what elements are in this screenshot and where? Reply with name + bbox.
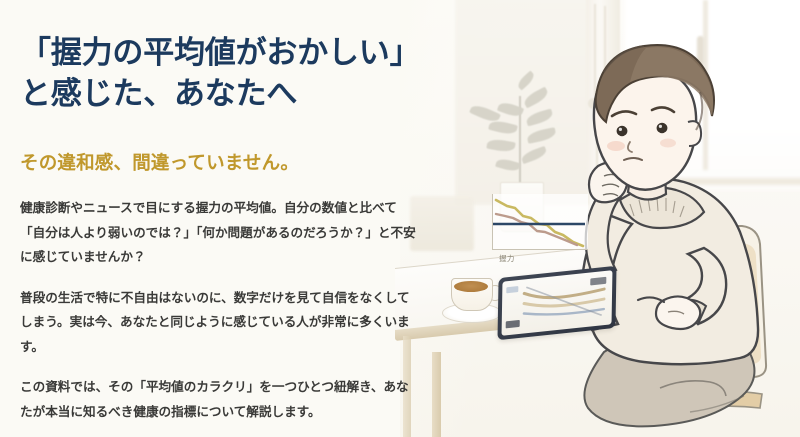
mini-chart-plot xyxy=(493,194,587,248)
headline-line-2: と感じた、あなたへ xyxy=(20,73,460,114)
page-title: 「握力の平均値がおかしい」 と感じた、あなたへ xyxy=(20,32,460,114)
headline-line-1: 「握力の平均値がおかしい」 xyxy=(20,32,460,73)
paragraph-1: 健康診断やニュースで目にする握力の平均値。自分の数値と比べて「自分は人より弱いの… xyxy=(20,196,420,270)
tablet-device[interactable] xyxy=(497,266,616,341)
subheading: その違和感、間違っていません。 xyxy=(20,149,299,175)
grip-strength-mini-chart xyxy=(492,194,588,250)
slide-root: 握力 「握力の平均値がおかしい」 と感じた、あなたへ その違和感、間違っていませ… xyxy=(0,0,800,437)
tablet-chart-icon xyxy=(502,270,613,336)
text-content-block: 「握力の平均値がおかしい」 と感じた、あなたへ その違和感、間違っていません。 … xyxy=(0,0,470,437)
tablet-screen[interactable] xyxy=(502,270,613,336)
paragraph-3: この資料では、その「平均値のカラクリ」を一つひとつ紐解き、あなたが本当に知るべき… xyxy=(20,375,420,424)
mini-chart-label: 握力 xyxy=(499,253,515,264)
body-text: 健康診断やニュースで目にする握力の平均値。自分の数値と比べて「自分は人より弱いの… xyxy=(20,196,420,424)
paragraph-2: 普段の生活で特に不自由はないのに、数字だけを見て自信をなくしてしまう。実は今、あ… xyxy=(20,286,420,360)
